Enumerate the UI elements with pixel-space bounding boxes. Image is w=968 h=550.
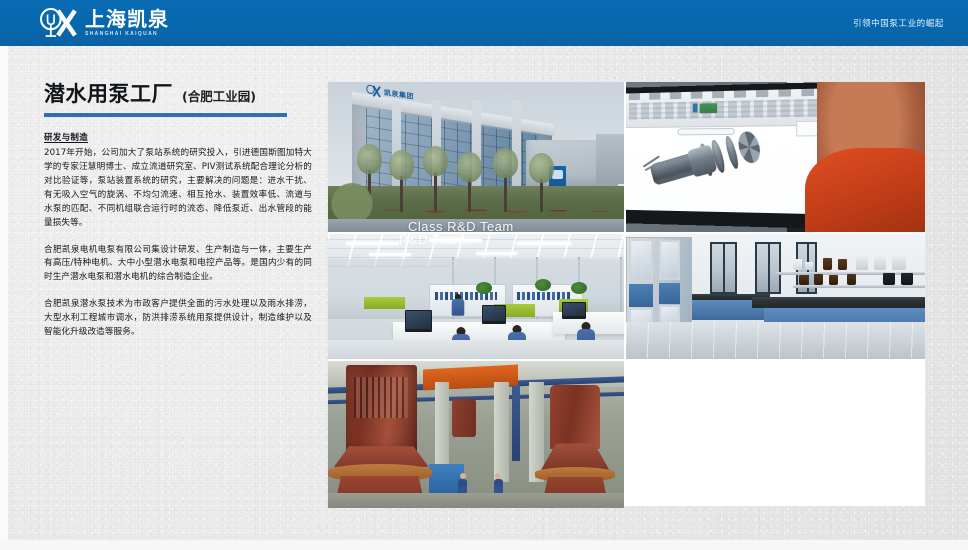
logo-text-en: SHANGHAI KAIQUAN: [85, 32, 169, 37]
kaiquan-logo-icon: [38, 8, 78, 38]
page-title: 潜水用泵工厂 (合肥工业园): [44, 78, 312, 108]
title-underline-rule: [44, 113, 287, 117]
bottom-margin-strip: [0, 540, 968, 550]
photo-office-building: 凯泉集团 Class R&D Team: [328, 82, 624, 232]
paragraph-1: 2017年开始，公司加大了泵站系统的研究投入，引进德国斯图加特大学的专家汪慧明博…: [44, 147, 312, 231]
section-heading: 研发与制造: [44, 131, 312, 143]
photo-caption-rnd-office: R&D Team: [399, 234, 466, 247]
brand-logo[interactable]: 上海凯泉 SHANGHAI KAIQUAN: [38, 8, 169, 38]
page-title-sub: (合肥工业园): [182, 86, 256, 105]
slide-canvas: 上海凯泉 SHANGHAI KAIQUAN 引领中国泵工业的崛起 潜水用泵工厂 …: [0, 0, 968, 550]
photo-pump-assembly: [328, 361, 624, 508]
header-bar: 上海凯泉 SHANGHAI KAIQUAN 引领中国泵工业的崛起: [0, 0, 968, 46]
header-slogan: 引领中国泵工业的崛起: [853, 17, 944, 29]
building-sign-text: 凯泉集团: [384, 88, 414, 102]
page-title-main: 潜水用泵工厂: [44, 78, 173, 108]
text-column: 潜水用泵工厂 (合肥工业园) 研发与制造 2017年开始，公司加大了泵站系统的研…: [44, 78, 312, 340]
photo-laboratory: [626, 234, 925, 359]
logo-text-cn: 上海凯泉: [85, 9, 169, 29]
paragraph-3: 合肥凯泉潜水泵技术为市政客户提供全面的污水处理以及雨水排涝，大型水利工程城市调水…: [44, 298, 312, 340]
photo-rnd-office: R&D Team: [328, 234, 624, 359]
photo-caption-rnd-team: Class R&D Team: [408, 219, 514, 232]
paragraph-2: 合肥凯泉电机电泵有限公司集设计研发、生产制造与一体，主要生产有高压/特种电机、大…: [44, 244, 312, 286]
left-margin-strip: [0, 46, 8, 550]
photo-cad-design: [626, 82, 925, 232]
photo-mosaic: 凯泉集团 Class R&D Team: [328, 82, 925, 506]
